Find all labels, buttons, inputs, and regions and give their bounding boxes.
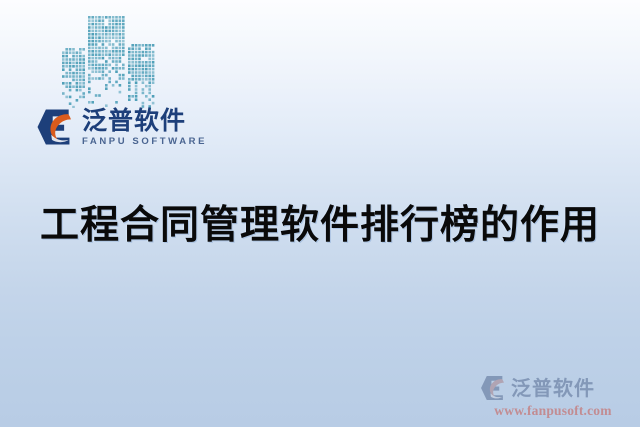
watermark: 泛普软件 www.fanpusoft.com bbox=[480, 375, 626, 419]
fanpu-hexagon-swoosh-icon bbox=[480, 375, 506, 401]
brand-name-en: FANPU SOFTWARE bbox=[82, 137, 207, 147]
fanpu-hexagon-swoosh-icon bbox=[36, 108, 74, 146]
watermark-brand-name: 泛普软件 bbox=[511, 378, 595, 398]
pixel-skyline-graphic bbox=[58, 12, 158, 108]
pixelated-skyscrapers-icon bbox=[58, 12, 158, 108]
promo-banner: 泛普软件 FANPU SOFTWARE 工程合同管理软件排行榜的作用 泛普软件 … bbox=[0, 0, 640, 427]
brand-name-cn: 泛普软件 bbox=[82, 108, 207, 133]
watermark-url: www.fanpusoft.com bbox=[480, 403, 626, 419]
watermark-logo-row: 泛普软件 bbox=[480, 375, 626, 401]
brand-logo: 泛普软件 FANPU SOFTWARE bbox=[36, 108, 207, 147]
page-title: 工程合同管理软件排行榜的作用 bbox=[0, 194, 640, 250]
